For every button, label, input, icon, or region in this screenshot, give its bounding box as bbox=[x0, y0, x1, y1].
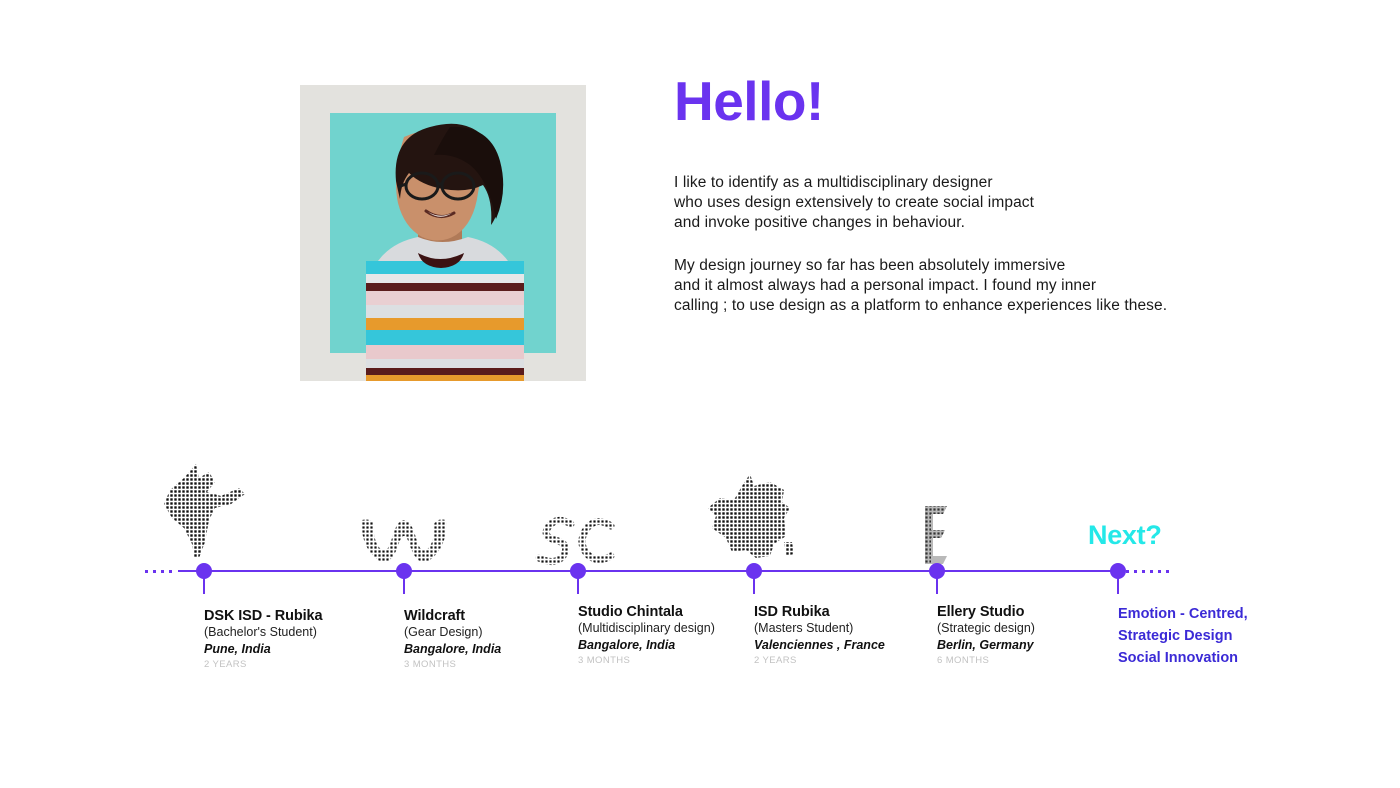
timeline-stem bbox=[577, 577, 579, 594]
intro-paragraph-1: I like to identify as a multidisciplinar… bbox=[674, 173, 1194, 233]
timeline-stem bbox=[753, 577, 755, 594]
studio-chintala-sc-logo bbox=[508, 468, 648, 568]
page-title: Hello! bbox=[674, 74, 1194, 129]
entry-role: (Bachelor's Student) bbox=[204, 625, 434, 641]
intro-paragraph-2: My design journey so far has been absolu… bbox=[674, 256, 1194, 316]
portrait-photo-frame bbox=[300, 85, 586, 381]
future-focus-text: Emotion - Centred, Strategic Design Soci… bbox=[1118, 604, 1368, 669]
timeline-axis-line bbox=[178, 570, 1119, 572]
timeline-stem bbox=[1117, 577, 1119, 594]
entry-name: DSK ISD - Rubika bbox=[204, 608, 434, 625]
india-map-halftone-logo bbox=[134, 458, 274, 558]
intro-block: Hello! I like to identify as a multidisc… bbox=[674, 74, 1194, 339]
timeline-stem bbox=[403, 577, 405, 594]
portrait-illustration bbox=[300, 85, 586, 381]
timeline-trailing-dots bbox=[1126, 566, 1169, 576]
timeline-stem bbox=[936, 577, 938, 594]
next-label: Next? bbox=[1088, 520, 1162, 551]
entry-place: Pune, India bbox=[204, 641, 434, 657]
france-map-halftone-logo bbox=[684, 464, 824, 564]
timeline-label-1: DSK ISD - Rubika (Bachelor's Student) Pu… bbox=[204, 608, 434, 672]
timeline-leading-dots bbox=[145, 566, 172, 576]
entry-duration: 2 YEARS bbox=[204, 657, 434, 672]
wildcraft-w-halftone-logo bbox=[334, 466, 474, 566]
ellery-studio-e-logo bbox=[867, 466, 1007, 566]
timeline-stem bbox=[203, 577, 205, 594]
career-timeline: DSK ISD - Rubika (Bachelor's Student) Pu… bbox=[0, 440, 1400, 690]
